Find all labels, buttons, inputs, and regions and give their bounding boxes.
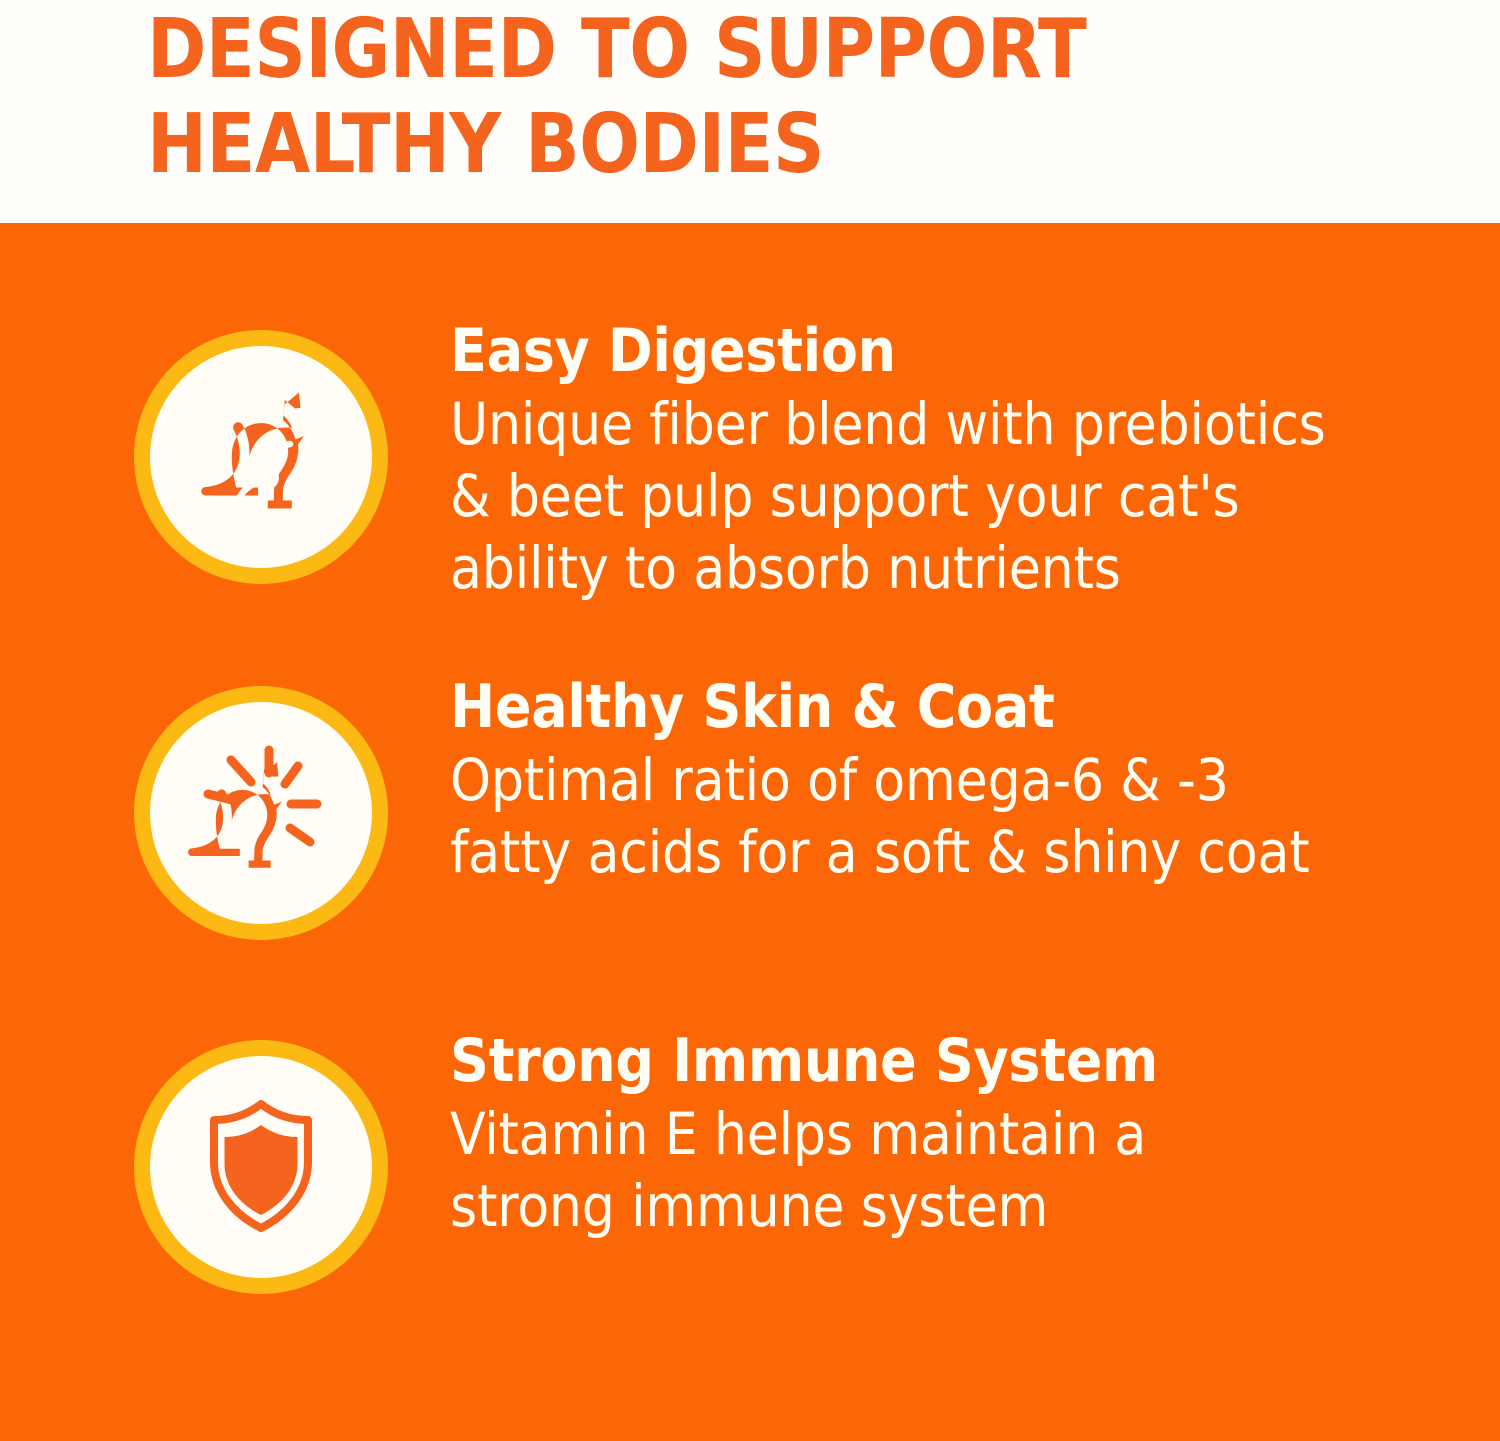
benefit-title: Strong Immune System: [450, 1026, 1470, 1096]
shield-icon: [186, 1092, 336, 1242]
shining-cat-icon: [186, 738, 336, 888]
page-title: DESIGNED TO SUPPORT HEALTHY BODIES: [147, 2, 1311, 192]
icon-badge-strong-immune-system: [134, 1040, 388, 1294]
benefit-text-healthy-skin-coat: Healthy Skin & Coat Optimal ratio of ome…: [450, 672, 1470, 888]
benefit-description: Unique fiber blend with prebiotics & bee…: [450, 388, 1470, 604]
icon-badge-healthy-skin-coat: [134, 686, 388, 940]
icon-badge-inner: [150, 346, 372, 568]
cat-digestion-icon: [186, 382, 336, 532]
benefit-description: Vitamin E helps maintain a strong immune…: [450, 1098, 1470, 1242]
benefit-text-strong-immune-system: Strong Immune System Vitamin E helps mai…: [450, 1026, 1470, 1242]
header-band: DESIGNED TO SUPPORT HEALTHY BODIES: [0, 0, 1500, 223]
benefit-text-easy-digestion: Easy Digestion Unique fiber blend with p…: [450, 316, 1470, 604]
icon-badge-easy-digestion: [134, 330, 388, 584]
product-benefits-poster: DESIGNED TO SUPPORT HEALTHY BODIES: [0, 0, 1500, 1441]
benefit-title: Healthy Skin & Coat: [450, 672, 1470, 742]
icon-badge-inner: [150, 1056, 372, 1278]
benefit-description: Optimal ratio of omega-6 & -3 fatty acid…: [450, 744, 1470, 888]
benefit-title: Easy Digestion: [450, 316, 1470, 386]
icon-badge-inner: [150, 702, 372, 924]
